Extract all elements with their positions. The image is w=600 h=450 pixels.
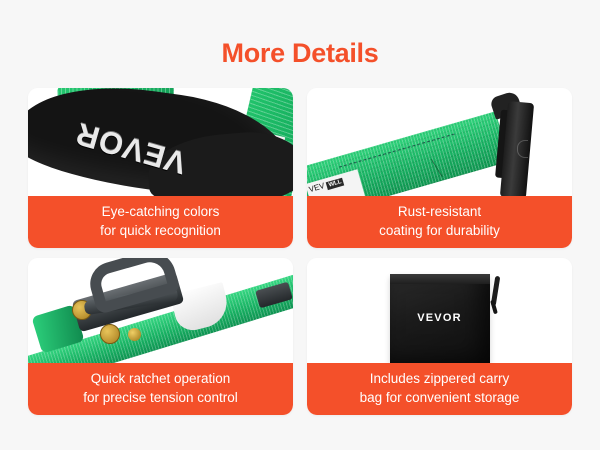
caption-line-2: coating for durability [307,221,572,240]
card-caption: Eye-catching colors for quick recognitio… [28,196,293,248]
caption-line-1: Rust-resistant [398,204,481,219]
feature-card-quick-ratchet-operation[interactable]: Quick ratchet operation for precise tens… [28,258,293,415]
hook-notch-detail [517,140,528,158]
card-caption: Includes zippered carry bag for convenie… [307,363,572,415]
ratchet-gear-icon [100,324,120,344]
caption-line-2: bag for convenient storage [307,388,572,407]
label-brand-text: VEV [308,181,326,194]
black-carry-bag-shape: VEVOR [390,274,490,366]
page-title: More Details [0,36,600,70]
feature-card-zippered-carry-bag[interactable]: VEVOR Includes zippered carry bag for co… [307,258,572,415]
caption-line-2: for quick recognition [28,221,293,240]
product-details-page: More Details VEVOR WLL 1100LBS VEVOR Eye… [0,0,600,450]
caption-line-1: Eye-catching colors [102,204,220,219]
label-rating-bar: WLL [326,178,345,190]
card-caption: Rust-resistant coating for durability [307,196,572,248]
brand-print-vevor: VEVOR [390,312,490,324]
feature-card-rust-resistant-coating[interactable]: VEV WLL Rust-resistant coating for durab… [307,88,572,248]
caption-line-2: for precise tension control [28,388,293,407]
feature-card-grid: VEVOR WLL 1100LBS VEVOR Eye-catching col… [28,88,572,415]
feature-card-eye-catching-colors[interactable]: VEVOR WLL 1100LBS VEVOR Eye-catching col… [28,88,293,248]
caption-line-1: Includes zippered carry [370,371,510,386]
card-caption: Quick ratchet operation for precise tens… [28,363,293,415]
ratchet-pin-icon [128,328,141,341]
caption-line-1: Quick ratchet operation [91,371,231,386]
